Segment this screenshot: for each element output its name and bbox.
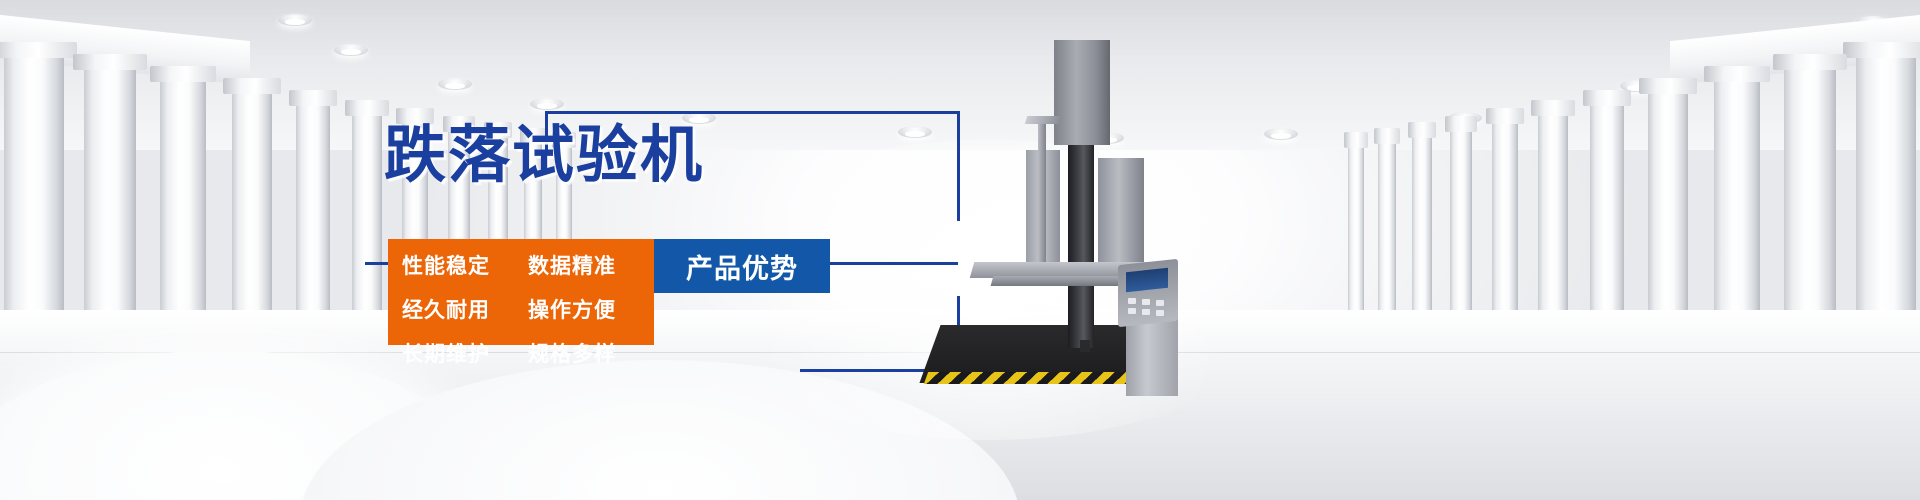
machine-panel-button bbox=[1128, 298, 1136, 304]
ceiling-lamp-icon bbox=[1264, 128, 1298, 140]
column bbox=[1492, 122, 1518, 336]
machine-head bbox=[1054, 40, 1110, 145]
column bbox=[1648, 92, 1688, 342]
ceiling-lamp-icon bbox=[898, 126, 932, 138]
features-box: 性能稳定 数据精准 经久耐用 操作方便 长期维护 规格多样 bbox=[388, 239, 654, 345]
column bbox=[1450, 130, 1472, 336]
drop-test-machine-image bbox=[930, 40, 1260, 380]
machine-panel-button bbox=[1128, 308, 1136, 314]
feature-item: 数据精准 bbox=[528, 250, 654, 280]
machine-guide-rod bbox=[1038, 122, 1046, 272]
machine-panel-button bbox=[1142, 299, 1150, 305]
feature-item: 经久耐用 bbox=[402, 294, 528, 324]
machine-panel-button bbox=[1142, 309, 1150, 315]
machine-rod-cap bbox=[1025, 116, 1062, 124]
machine-hazard-stripe bbox=[924, 372, 1148, 384]
feature-row: 长期维护 规格多样 bbox=[402, 338, 654, 368]
feature-item: 操作方便 bbox=[528, 294, 654, 324]
column bbox=[1784, 68, 1836, 350]
machine-right-arm bbox=[1098, 158, 1144, 268]
column bbox=[1538, 114, 1568, 338]
column bbox=[1348, 146, 1364, 336]
column bbox=[232, 92, 272, 342]
column bbox=[1378, 142, 1396, 336]
page-title: 跌落试验机 bbox=[384, 124, 704, 186]
ceiling-lamp-icon bbox=[438, 78, 472, 90]
feature-item: 性能稳定 bbox=[402, 250, 528, 280]
product-banner: 跌落试验机 性能稳定 数据精准 经久耐用 操作方便 长期维护 规格多样 产品优势 bbox=[0, 0, 1920, 500]
feature-row: 性能稳定 数据精准 bbox=[402, 250, 654, 280]
machine-base-foot bbox=[1080, 340, 1090, 352]
advantage-badge: 产品优势 bbox=[654, 239, 830, 293]
column bbox=[160, 80, 206, 346]
advantage-label: 产品优势 bbox=[686, 247, 798, 286]
machine-panel-button bbox=[1156, 300, 1164, 306]
column bbox=[1714, 80, 1760, 346]
column bbox=[296, 104, 330, 340]
ceiling-lamp-icon bbox=[530, 98, 564, 110]
ceiling-lamp-icon bbox=[278, 14, 312, 26]
ceiling-lamp-icon bbox=[334, 44, 368, 56]
feature-item: 规格多样 bbox=[528, 338, 654, 368]
machine-panel-button bbox=[1156, 310, 1164, 316]
column bbox=[352, 114, 382, 338]
column bbox=[1590, 104, 1624, 340]
column bbox=[1412, 136, 1432, 336]
feature-row: 经久耐用 操作方便 bbox=[402, 294, 654, 324]
column bbox=[84, 68, 136, 350]
feature-item: 长期维护 bbox=[402, 338, 528, 368]
frame-top-horizontal bbox=[545, 111, 960, 114]
